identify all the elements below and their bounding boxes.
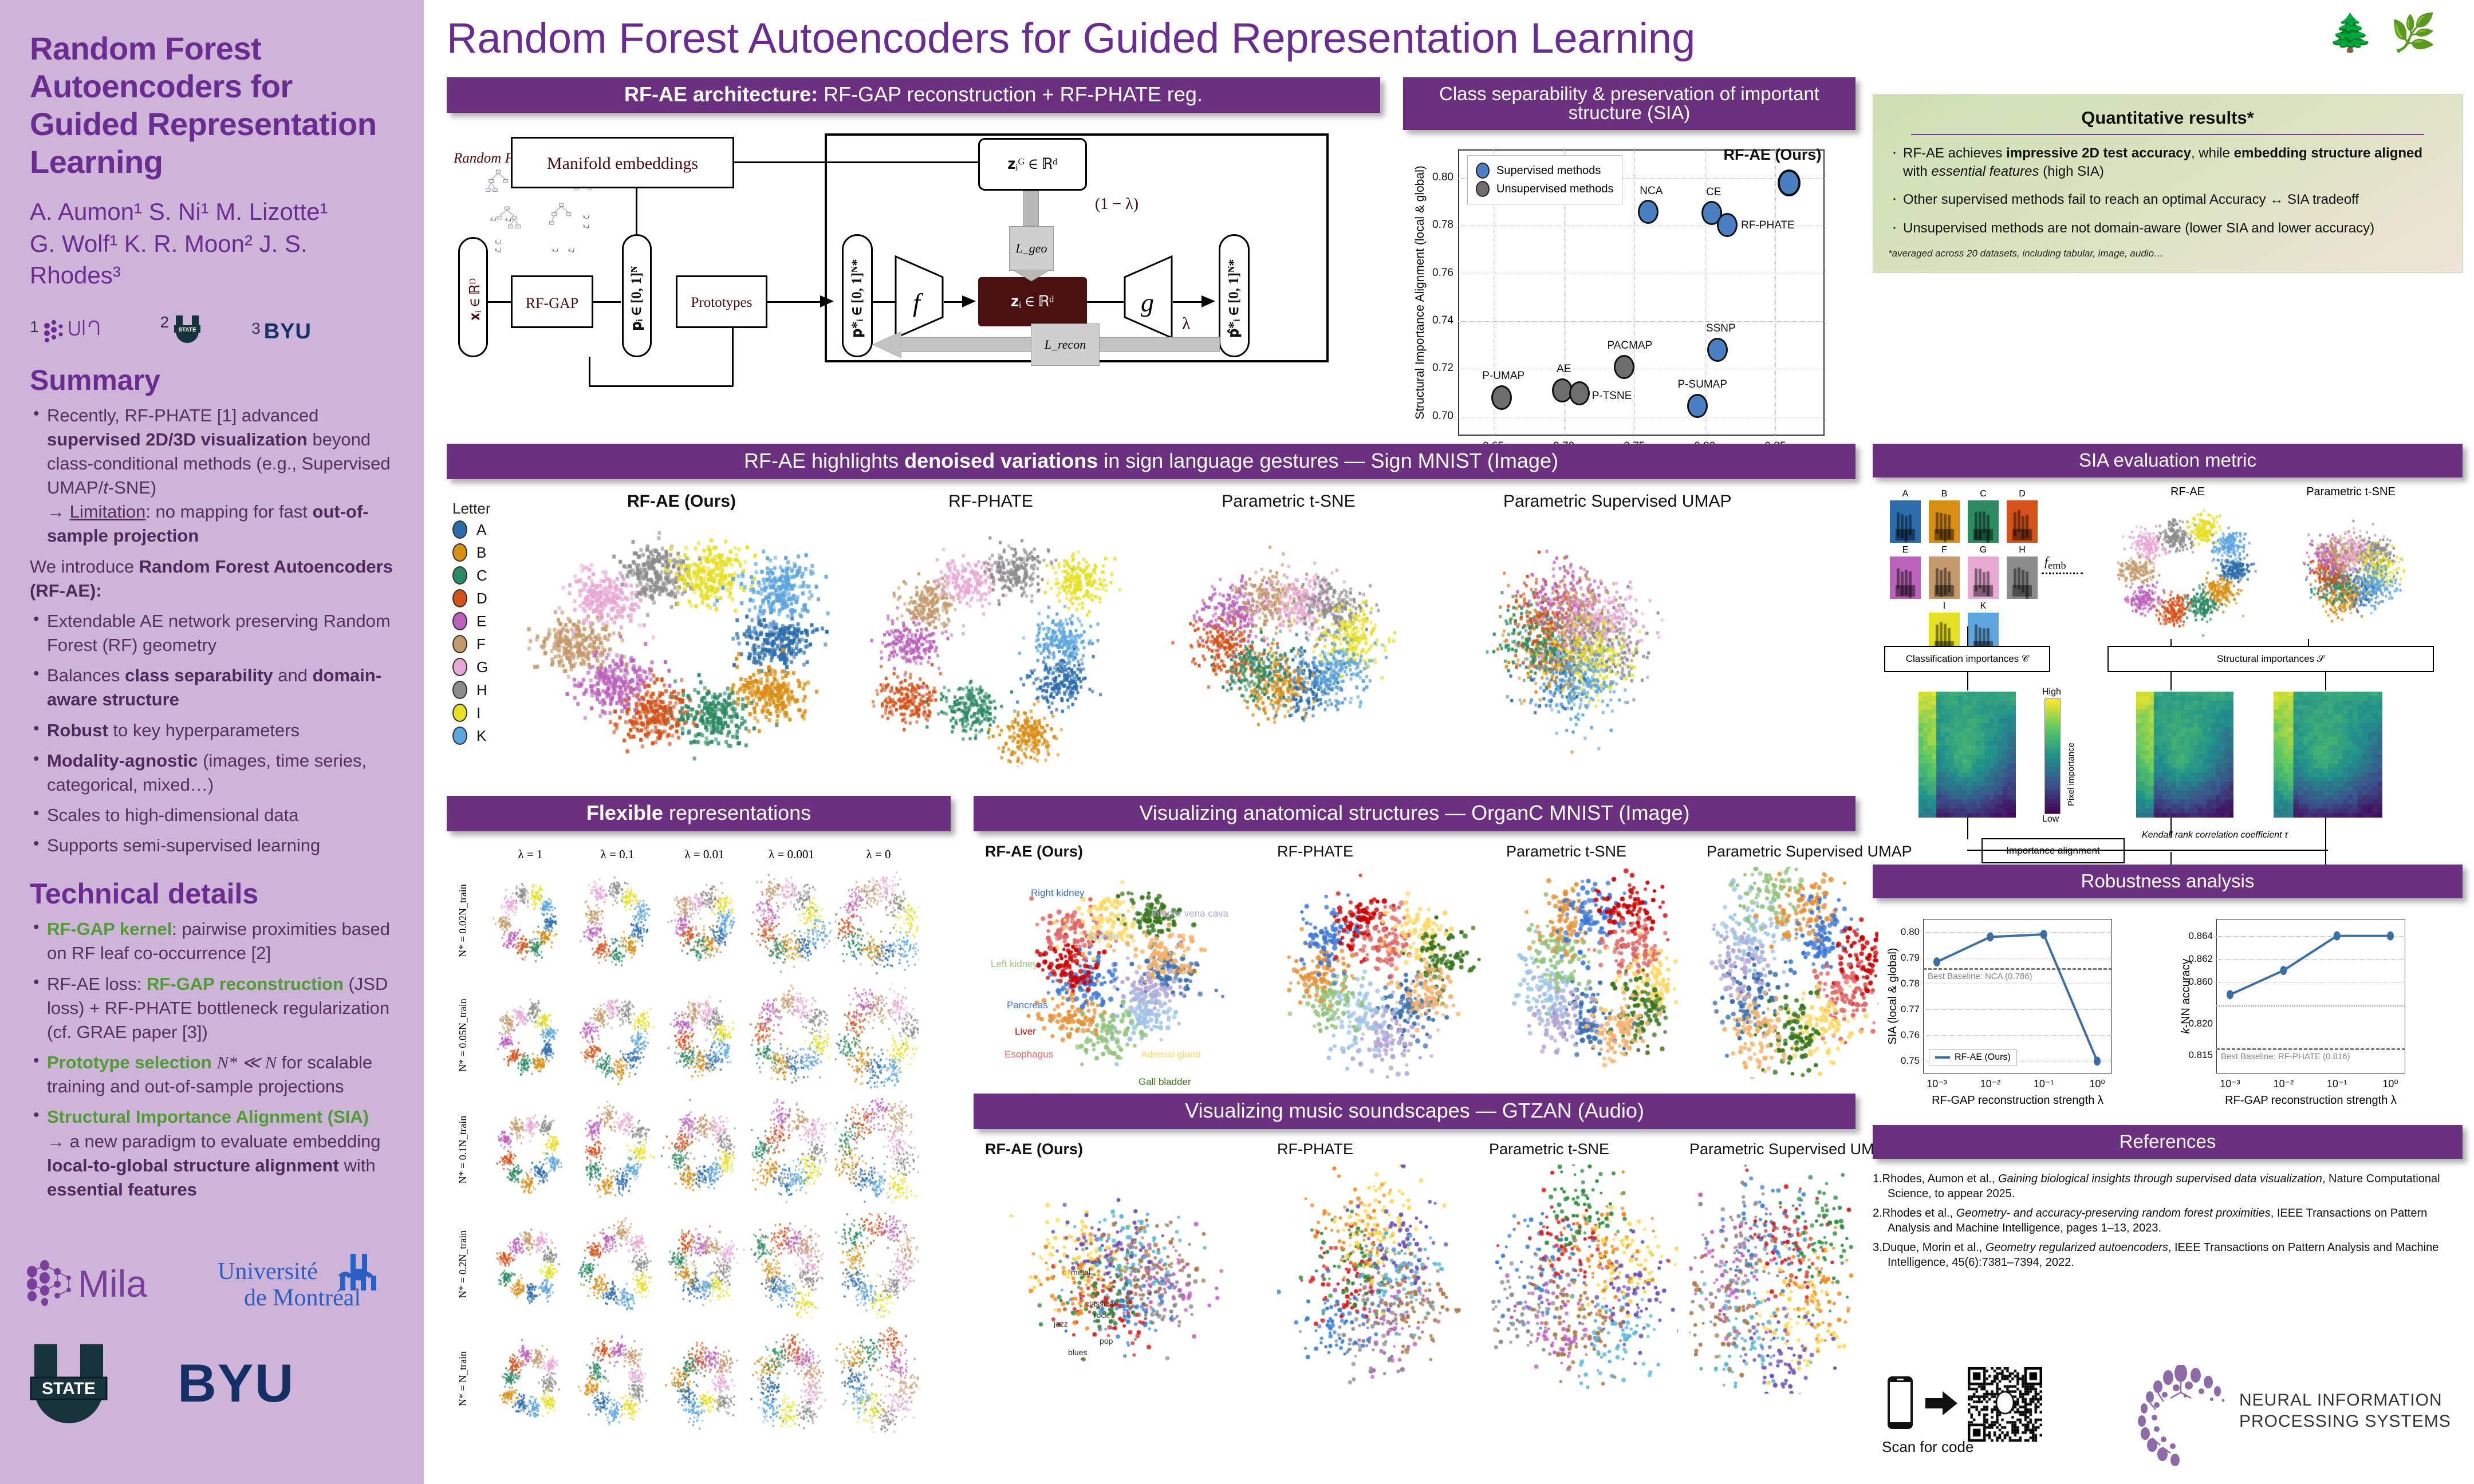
hand-letter-label: H bbox=[2007, 545, 2038, 555]
legend-dot bbox=[452, 589, 467, 607]
flex-cell-plot[interactable] bbox=[835, 869, 919, 974]
summary-list: Recently, RF-PHATE [1] advanced supervis… bbox=[30, 404, 399, 858]
robustness-x-tick: 10⁻¹ bbox=[2322, 1078, 2352, 1090]
organc-embedding-plot[interactable] bbox=[1506, 867, 1689, 1079]
robustness-x-tick: 10⁰ bbox=[2082, 1078, 2112, 1090]
y-tick-label: 0.80 bbox=[1426, 171, 1453, 184]
organc-bar: Visualizing anatomical structures — Orga… bbox=[974, 796, 1855, 831]
svg-text:Mila: Mila bbox=[78, 1262, 147, 1305]
manifold-embeddings-label: Manifold embeddings bbox=[511, 154, 734, 173]
flex-cell-plot[interactable] bbox=[661, 1327, 744, 1432]
technical-heading: Technical details bbox=[30, 877, 399, 910]
lrecon-arrowhead-icon bbox=[873, 331, 901, 358]
embedding-plot[interactable] bbox=[521, 515, 842, 767]
legend-row: B bbox=[452, 543, 486, 562]
logo-row-1: Mila Université de Montréal bbox=[23, 1252, 401, 1315]
importance-alignment-box: Importance alignment bbox=[1981, 838, 2125, 863]
organc-subplot-title: Parametric t-SNE bbox=[1506, 843, 1626, 861]
svg-text:x_j: x_j bbox=[582, 223, 589, 228]
technical-list: RF-GAP kernel: pairwise proximities base… bbox=[30, 917, 399, 1202]
legend-row: G bbox=[452, 658, 488, 676]
reference-item-0: 1.Rhodes, Aumon et al., Gaining biologic… bbox=[1873, 1171, 2463, 1201]
gtzan-embedding-plot[interactable] bbox=[985, 1165, 1254, 1394]
flex-cell-plot[interactable] bbox=[748, 1327, 832, 1432]
quant-footnote: *averaged across 20 datasets, including … bbox=[1888, 248, 2447, 259]
hand-image bbox=[1968, 500, 1999, 543]
arrow-right-icon bbox=[1925, 1389, 1957, 1418]
organ-label: Left kidney bbox=[991, 958, 1038, 970]
legend-title: Letter bbox=[452, 500, 491, 518]
flex-cell-plot[interactable] bbox=[661, 984, 744, 1089]
hand-image bbox=[2007, 500, 2038, 543]
legend-dot bbox=[452, 520, 467, 539]
legend-row: E bbox=[452, 612, 486, 630]
technical-item-1: RF-AE loss: RF-GAP reconstruction (JSD l… bbox=[30, 972, 399, 1044]
organc-figures: RF-AE (Ours)RF-PHATEParametric t-SNEPara… bbox=[974, 839, 1855, 1086]
author-list: A. Aumon¹ S. Ni¹ M. Lizotte¹ G. Wolf¹ K.… bbox=[30, 196, 399, 291]
flex-cell-plot[interactable] bbox=[748, 869, 832, 974]
robustness-x-tick: 10⁻² bbox=[2268, 1078, 2298, 1090]
hand-letter-label: I bbox=[1929, 601, 1960, 611]
svg-text:x_i: x_i bbox=[582, 214, 589, 219]
flex-cell-plot[interactable] bbox=[487, 869, 570, 974]
flex-cell-plot[interactable] bbox=[835, 1098, 919, 1203]
sia-embedding-plot[interactable] bbox=[2107, 500, 2268, 638]
colorbar-low-label: Low bbox=[2042, 814, 2059, 824]
femb-dotted-arrow bbox=[2042, 573, 2083, 574]
legend-row: C bbox=[452, 566, 487, 585]
legend-label: I bbox=[476, 704, 480, 722]
subplot-title: RF-PHATE bbox=[922, 492, 1059, 511]
legend-dot bbox=[452, 566, 467, 585]
panel-quantitative-results: Quantitative results* RF-AE achieves imp… bbox=[1873, 94, 2463, 273]
scatter-point[interactable] bbox=[1707, 338, 1728, 362]
scatter-point-label: PACMAP bbox=[1607, 340, 1652, 352]
affiliation-logos: 1 2 STATE 3 bbox=[30, 302, 399, 344]
line-proto-up bbox=[732, 328, 734, 386]
lgeo-arrowhead-icon bbox=[1013, 270, 1050, 281]
gtzan-embedding-plot[interactable] bbox=[1489, 1165, 1678, 1394]
sia-embedding-title: RF-AE bbox=[2107, 486, 2268, 499]
architecture-bar: RF-AE architecture: RF-GAP reconstructio… bbox=[447, 77, 1380, 113]
poster-title-sidebar: Random Forest Autoencoders for Guided Re… bbox=[30, 30, 399, 181]
poster-main: Random Forest Autoencoders for Guided Re… bbox=[435, 0, 2474, 1484]
z-geometry-label: 𝐳ᵢᴳ ∈ ℝᵈ bbox=[978, 155, 1087, 173]
legend-label: G bbox=[476, 658, 488, 676]
classification-heatmap bbox=[1918, 692, 2016, 818]
flex-cell-plot[interactable] bbox=[574, 1327, 657, 1432]
organc-subplot-title: RF-AE (Ours) bbox=[985, 843, 1083, 861]
legend-label: K bbox=[476, 727, 486, 745]
references-bar: References bbox=[1873, 1125, 2463, 1159]
sia-connector-line bbox=[2170, 672, 2172, 690]
baseline-line bbox=[2216, 1048, 2405, 1050]
legend-row: H bbox=[452, 681, 487, 699]
lrecon-label: L_recon bbox=[1045, 337, 1086, 352]
broken-axis-marker bbox=[2216, 1005, 2405, 1007]
organc-embedding-plot[interactable] bbox=[1707, 867, 1878, 1079]
y-tick-label: 0.74 bbox=[1426, 314, 1453, 327]
separability-chart: 0.700.720.740.760.780.800.650.700.750.80… bbox=[1403, 139, 1855, 460]
legend-label: E bbox=[476, 613, 486, 630]
organ-label: Aorta bbox=[1174, 965, 1197, 977]
scatter-point-label: RF-PHATE bbox=[1741, 219, 1795, 232]
genre-label: jazz bbox=[1054, 1319, 1068, 1328]
y-tick-label: 0.76 bbox=[1426, 267, 1453, 279]
byu-logo-wordmark: BYU bbox=[178, 1352, 294, 1414]
quant-item-1: Other supervised methods fail to reach a… bbox=[1888, 191, 2447, 209]
embedding-plot[interactable] bbox=[1443, 515, 1701, 767]
summary-item-2: Extendable AE network preserving Random … bbox=[30, 609, 399, 657]
hand-image bbox=[1968, 556, 1999, 599]
gtzan-subplot-title: Parametric Supervised UMAP bbox=[1689, 1140, 1895, 1158]
flex-cell-plot[interactable] bbox=[748, 1098, 832, 1203]
summary-item-4: Robust to key hyperparameters bbox=[30, 719, 399, 743]
robustness-grid bbox=[1923, 1009, 2112, 1010]
flexible-bar-bold: Flexible bbox=[586, 801, 663, 824]
gtzan-embedding-plot[interactable] bbox=[1277, 1165, 1472, 1394]
phone-icon bbox=[1884, 1374, 1916, 1431]
flex-col-label: λ = 0.01 bbox=[661, 847, 748, 862]
flex-cell-plot[interactable] bbox=[574, 869, 657, 974]
organ-label: Esophagus bbox=[1004, 1049, 1053, 1060]
flex-row-label: N* = 0.05N_train bbox=[457, 978, 469, 1092]
sia-connector-line bbox=[1967, 818, 1968, 839]
legend-dot bbox=[452, 635, 467, 653]
panel-robustness: Robustness analysis 0.750.760.770.780.79… bbox=[1873, 865, 2463, 1131]
flex-row-label: N* = 0.2N_train bbox=[457, 1207, 469, 1321]
baseline-label: Best Baseline: NCA (0.786) bbox=[1928, 972, 2032, 981]
robustness-grid bbox=[1923, 958, 2112, 958]
hand-image bbox=[1890, 500, 1921, 543]
colorbar-high-label: High bbox=[2042, 687, 2061, 697]
decoder-trapezoid-icon: g bbox=[1122, 254, 1174, 340]
sia-bar: SIA evaluation metric bbox=[1873, 444, 2463, 477]
svg-text:x_j: x_j bbox=[494, 247, 501, 252]
quant-divider bbox=[1911, 134, 2424, 135]
tsne-structural-heatmap bbox=[2274, 692, 2382, 818]
robustness-x-tick: 10⁻³ bbox=[1922, 1078, 1952, 1090]
flex-cell-plot[interactable] bbox=[835, 1213, 919, 1318]
rf-gap-label: RF-GAP bbox=[511, 295, 593, 312]
p-hat-star-label: 𝐩̂*ᵢ ∈ [0, 1]ᴺ* bbox=[1226, 227, 1242, 370]
sign-bar-post: in sign language gestures — Sign MNIST (… bbox=[1098, 449, 1558, 472]
subplot-title: Parametric Supervised UMAP bbox=[1503, 492, 1641, 511]
sign-mnist-figures: LetterABCDEFGHIKRF-AE (Ours)RF-PHATEPara… bbox=[447, 487, 1855, 773]
scan-for-code-label: Scan for code bbox=[1882, 1438, 1973, 1456]
panel-flexible: Flexible representations λ = 1λ = 0.1λ =… bbox=[447, 796, 951, 1467]
y-tick-label: 0.78 bbox=[1426, 219, 1453, 231]
sia-figure: ABCDEFGHIKfembRF-AEParametric t-SNEClass… bbox=[1873, 486, 2463, 892]
flex-col-label: λ = 0 bbox=[835, 847, 922, 862]
sidebar-divider bbox=[424, 0, 435, 1484]
sign-bar-bold: denoised variations bbox=[904, 449, 1098, 472]
robustness-x-tick: 10⁻³ bbox=[2215, 1078, 2245, 1090]
affiliation-2-usu: 2 STATE bbox=[160, 313, 203, 344]
flex-cell-plot[interactable] bbox=[487, 1213, 570, 1318]
robustness-grid bbox=[1923, 1035, 2112, 1036]
colorbar-axis-label: Pixel importance bbox=[2066, 743, 2076, 806]
flex-cell-plot[interactable] bbox=[574, 984, 657, 1089]
usu-small-icon: STATE bbox=[172, 313, 202, 344]
y-tick-label: 0.70 bbox=[1426, 410, 1453, 423]
grid-line-v bbox=[1705, 149, 1705, 436]
lambda-label: λ bbox=[1182, 314, 1191, 334]
hand-letter-label: D bbox=[2007, 489, 2038, 499]
organc-embedding-plot[interactable] bbox=[1277, 867, 1483, 1079]
technical-item-3: Structural Importance Alignment (SIA)→ a… bbox=[30, 1105, 399, 1202]
robustness-grid bbox=[2216, 982, 2405, 982]
evergreen-herb-icon: 🌲 🌿 bbox=[2328, 11, 2440, 54]
robustness-legend: RF-AE (Ours) bbox=[1929, 1049, 2017, 1065]
legend-swatch bbox=[1476, 163, 1490, 179]
legend-dot bbox=[452, 727, 467, 745]
mila-small-icon bbox=[42, 318, 111, 344]
robustness-grid bbox=[2216, 959, 2405, 960]
scatter-point[interactable] bbox=[1569, 381, 1590, 405]
flex-cell-plot[interactable] bbox=[574, 1213, 657, 1318]
technical-item-0: RF-GAP kernel: pairwise proximities base… bbox=[30, 917, 399, 965]
hand-letter-label: A bbox=[1890, 489, 1921, 499]
flex-cell-plot[interactable] bbox=[835, 984, 919, 1089]
decoder-g-glyph: g bbox=[1141, 288, 1154, 317]
p-i-label: 𝐩ᵢ ∈ [0, 1]ᴺ bbox=[629, 230, 645, 367]
legend-dot bbox=[452, 658, 467, 676]
svg-text:x_j: x_j bbox=[568, 247, 574, 252]
arrowhead-to-pstar-icon bbox=[820, 295, 834, 308]
hand-letter-label: K bbox=[1968, 601, 1999, 611]
organ-label: Inferior vena cava bbox=[1151, 908, 1228, 919]
robustness-charts: 0.750.760.770.780.790.80Best Baseline: N… bbox=[1873, 907, 2463, 1131]
svg-text:x_i: x_i bbox=[490, 216, 497, 222]
panel-footer: Scan for code NEURAL INFO bbox=[1873, 1357, 2463, 1471]
line-z-to-g bbox=[1087, 301, 1124, 303]
page-title: Random Forest Autoencoders for Guided Re… bbox=[447, 14, 2394, 62]
baseline-line bbox=[1923, 968, 2112, 970]
robustness-x-tick: 10⁻² bbox=[1975, 1078, 2005, 1090]
legend-label: Supervised methods bbox=[1496, 164, 1601, 177]
scatter-legend: Supervised methodsUnsupervised methods bbox=[1467, 155, 1622, 204]
neurips-line-2: PROCESSING SYSTEMS bbox=[2239, 1411, 2451, 1432]
summary-item-5: Modality-agnostic (images, time series, … bbox=[30, 749, 399, 797]
sia-embedding-plot[interactable] bbox=[2274, 500, 2428, 638]
sia-connector-line bbox=[2325, 818, 2326, 870]
organ-label: Liver bbox=[1015, 1026, 1036, 1037]
gtzan-figures: RF-AE (Ours)RF-PHATEParametric t-SNEPara… bbox=[974, 1137, 1855, 1406]
embedding-plot[interactable] bbox=[848, 515, 1134, 767]
flex-row-label: N* = N_train bbox=[457, 1321, 469, 1436]
sia-connector-line bbox=[2170, 818, 2172, 838]
summary-heading: Summary bbox=[30, 364, 399, 397]
y-axis-label: Structural Importance Alignment (local &… bbox=[1413, 149, 1427, 436]
hand-image bbox=[1929, 556, 1960, 599]
architecture-bar-bold: RF-AE architecture: bbox=[624, 82, 818, 106]
line-bottom-proto bbox=[589, 385, 733, 387]
baseline-label: Best Baseline: RF-PHATE (0.816) bbox=[2221, 1052, 2350, 1061]
affil-mark-3: 3 bbox=[251, 319, 261, 338]
panel-sign-mnist: RF-AE highlights denoised variations in … bbox=[447, 444, 1855, 773]
sign-mnist-bar: RF-AE highlights denoised variations in … bbox=[447, 444, 1855, 479]
robustness-grid bbox=[1923, 984, 2112, 984]
authors-line-2: G. Wolf¹ K. R. Moon² J. S. Rhodes³ bbox=[30, 228, 399, 291]
quant-list: RF-AE achieves impressive 2D test accura… bbox=[1888, 144, 2447, 238]
quant-title: Quantitative results* bbox=[1888, 108, 2447, 128]
robustness-x-tick: 10⁻¹ bbox=[2029, 1078, 2059, 1090]
embedding-plot[interactable] bbox=[1151, 515, 1426, 767]
gtzan-subplot-title: Parametric t-SNE bbox=[1489, 1140, 1609, 1158]
lgeo-box: L_geo bbox=[1009, 226, 1054, 271]
y-tick-label: 0.72 bbox=[1426, 362, 1453, 374]
flex-cell-plot[interactable] bbox=[835, 1327, 919, 1432]
input-x-label: 𝐱ᵢ ∈ ℝᴰ bbox=[467, 248, 483, 351]
structural-importances-box: Structural importances 𝒮 bbox=[2107, 646, 2434, 672]
mila-logo-icon: Mila bbox=[23, 1254, 195, 1312]
arrowhead-to-z-icon bbox=[962, 295, 976, 308]
udem-logo-icon: Université de Montréal bbox=[218, 1252, 389, 1315]
scatter-point-label: SSNP bbox=[1706, 322, 1736, 335]
flex-cell-plot[interactable] bbox=[487, 984, 570, 1089]
grid-line-v bbox=[1775, 149, 1776, 436]
classification-importances-box: Classification importances 𝒞 bbox=[1884, 646, 2050, 672]
legend-row: A bbox=[452, 520, 486, 539]
legend-dot bbox=[452, 543, 467, 562]
robustness-bar: Robustness analysis bbox=[1873, 865, 2463, 898]
subplot-title: Parametric t-SNE bbox=[1220, 492, 1357, 511]
neurips-logo-icon bbox=[2132, 1365, 2235, 1466]
flex-cell-plot[interactable] bbox=[487, 1098, 570, 1203]
scatter-point-label: P-SUMAP bbox=[1677, 378, 1727, 391]
panel-architecture: RF-AE architecture: RF-GAP reconstructio… bbox=[447, 77, 1380, 372]
sponsor-logos: Mila Université de Montréal bbox=[23, 1252, 401, 1452]
hand-image bbox=[1929, 500, 1960, 543]
line-rfgap-down bbox=[589, 357, 590, 386]
grid-line-h bbox=[1458, 321, 1825, 322]
references-list: 1.Rhodes, Aumon et al., Gaining biologic… bbox=[1873, 1171, 2463, 1270]
sia-connector-line bbox=[2170, 639, 2172, 646]
svg-text:x_i: x_i bbox=[494, 239, 501, 244]
affiliation-3-byu: 3 BYU bbox=[251, 319, 312, 344]
bottleneck-z-box: 𝐳ᵢ ∈ ℝᵈ bbox=[978, 277, 1087, 326]
line-manifold-to-p bbox=[636, 188, 637, 235]
hand-image bbox=[1890, 556, 1921, 599]
summary-item-3: Balances class separability and domain-a… bbox=[30, 664, 399, 712]
legend-label: F bbox=[476, 636, 486, 653]
affil-mark-1: 1 bbox=[30, 318, 39, 336]
organ-label: Spleen bbox=[1088, 931, 1118, 942]
flex-cell-plot[interactable] bbox=[661, 1213, 744, 1318]
scatter-point-label: CE bbox=[1706, 186, 1721, 199]
svg-text:x_i: x_i bbox=[551, 247, 558, 252]
organc-embedding-plot[interactable] bbox=[985, 867, 1254, 1079]
lrecon-box: L_recon bbox=[1031, 323, 1100, 366]
genre-label: blues bbox=[1068, 1348, 1087, 1357]
lgeo-label: L_geo bbox=[1016, 241, 1047, 256]
organ-label: Right kidney bbox=[1031, 887, 1085, 899]
flex-cell-plot[interactable] bbox=[748, 1213, 832, 1318]
summary-item-1: We introduce Random Forest Autoencoders … bbox=[30, 555, 399, 603]
line-pstar-to-f bbox=[873, 301, 896, 303]
panel-sia-metric: SIA evaluation metric ABCDEFGHIKfembRF-A… bbox=[1873, 444, 2463, 892]
one-minus-lambda-label: (1 − λ) bbox=[1095, 195, 1138, 214]
flex-cell-plot[interactable] bbox=[661, 869, 744, 974]
hand-letter-label: G bbox=[1968, 545, 1999, 555]
scatter-point-label: RF-AE (Ours) bbox=[1723, 146, 1821, 164]
panel-references: References 1.Rhodes, Aumon et al., Gaini… bbox=[1873, 1125, 2463, 1274]
sign-bar-pre: RF-AE highlights bbox=[744, 449, 904, 472]
lgeo-shaft-upper bbox=[1023, 191, 1039, 226]
legend-row: K bbox=[452, 727, 486, 745]
svg-text:STATE: STATE bbox=[42, 1379, 96, 1398]
sia-connector-line bbox=[1967, 626, 1968, 646]
flex-row-label: N* = 0.02N_train bbox=[457, 863, 469, 978]
neurips-line-1: NEURAL INFORMATION bbox=[2239, 1390, 2451, 1411]
separability-bar: Class separability & preservation of imp… bbox=[1403, 77, 1855, 130]
organc-subplot-title: RF-PHATE bbox=[1277, 843, 1353, 861]
flexible-bar: Flexible representations bbox=[447, 796, 951, 831]
svg-text:STATE: STATE bbox=[179, 327, 197, 333]
hand-letter-label: F bbox=[1929, 545, 1960, 555]
genre-label: classical bbox=[1085, 1299, 1116, 1308]
legend-label: D bbox=[476, 590, 487, 607]
hand-letter-label: B bbox=[1929, 489, 1960, 499]
technical-item-2: Prototype selection N* ≪ N for scalable … bbox=[30, 1051, 399, 1099]
flex-cell-plot[interactable] bbox=[661, 1098, 744, 1203]
summary-item-7: Supports semi-supervised learning bbox=[30, 834, 399, 858]
legend-dot bbox=[452, 681, 467, 699]
robustness-x-label: RF-GAP reconstruction strength λ bbox=[1900, 1094, 2135, 1107]
hand-letter-label: E bbox=[1890, 545, 1921, 555]
sia-horizontal-connector bbox=[1967, 850, 2328, 851]
legend-swatch bbox=[1476, 181, 1490, 197]
sia-connector-line bbox=[2325, 672, 2326, 690]
svg-text:Université: Université bbox=[218, 1258, 318, 1285]
femb-label: femb bbox=[2044, 554, 2066, 571]
flex-cell-plot[interactable] bbox=[748, 984, 832, 1089]
gtzan-embedding-plot[interactable] bbox=[1689, 1165, 1855, 1394]
organ-label: Adrenal gland bbox=[1141, 1049, 1201, 1060]
affil-mark-2: 2 bbox=[160, 313, 170, 331]
scatter-point-label: AE bbox=[1557, 363, 1571, 376]
flex-cell-plot[interactable] bbox=[574, 1098, 657, 1203]
sia-embedding-title: Parametric t-SNE bbox=[2274, 486, 2428, 499]
byu-small-wordmark: BYU bbox=[264, 319, 312, 344]
reference-item-1: 2.Rhodes et al., Geometry- and accuracy-… bbox=[1873, 1206, 2463, 1236]
logo-row-2: STATE BYU bbox=[23, 1337, 401, 1429]
scatter-point[interactable] bbox=[1491, 385, 1512, 409]
flex-col-label: λ = 0.001 bbox=[748, 847, 835, 862]
gtzan-subplot-title: RF-AE (Ours) bbox=[985, 1140, 1083, 1158]
robustness-frame bbox=[2216, 919, 2405, 1073]
quant-item-0: RF-AE achieves impressive 2D test accura… bbox=[1888, 144, 2447, 180]
legend-row: I bbox=[452, 704, 480, 722]
flexible-grid: λ = 1λ = 0.1λ = 0.01λ = 0.001λ = 0N* = 0… bbox=[447, 843, 951, 1467]
flex-cell-plot[interactable] bbox=[487, 1327, 570, 1432]
legend-marker bbox=[1935, 1056, 1950, 1059]
quant-item-2: Unsupervised methods are not domain-awar… bbox=[1888, 219, 2447, 238]
legend-label: C bbox=[476, 567, 487, 585]
bottleneck-z-label: 𝐳ᵢ ∈ ℝᵈ bbox=[1011, 293, 1054, 311]
usu-logo-icon: STATE bbox=[23, 1337, 115, 1429]
arrow-rfgap-to-p bbox=[593, 301, 621, 303]
robustness-x-label: RF-GAP reconstruction strength λ bbox=[2193, 1094, 2428, 1107]
subplot-title: RF-AE (Ours) bbox=[613, 492, 750, 511]
importance-colorbar bbox=[2044, 698, 2061, 814]
robustness-y-label: k-NN accuracy bbox=[2180, 919, 2193, 1073]
panel-organc: Visualizing anatomical structures — Orga… bbox=[974, 796, 1855, 1086]
prototypes-label: Prototypes bbox=[676, 295, 767, 311]
qr-code-icon[interactable] bbox=[1968, 1367, 2042, 1444]
architecture-figure: Random Forest x_ix_j x_ix_j x_ix_j x_ix_… bbox=[447, 125, 1380, 372]
